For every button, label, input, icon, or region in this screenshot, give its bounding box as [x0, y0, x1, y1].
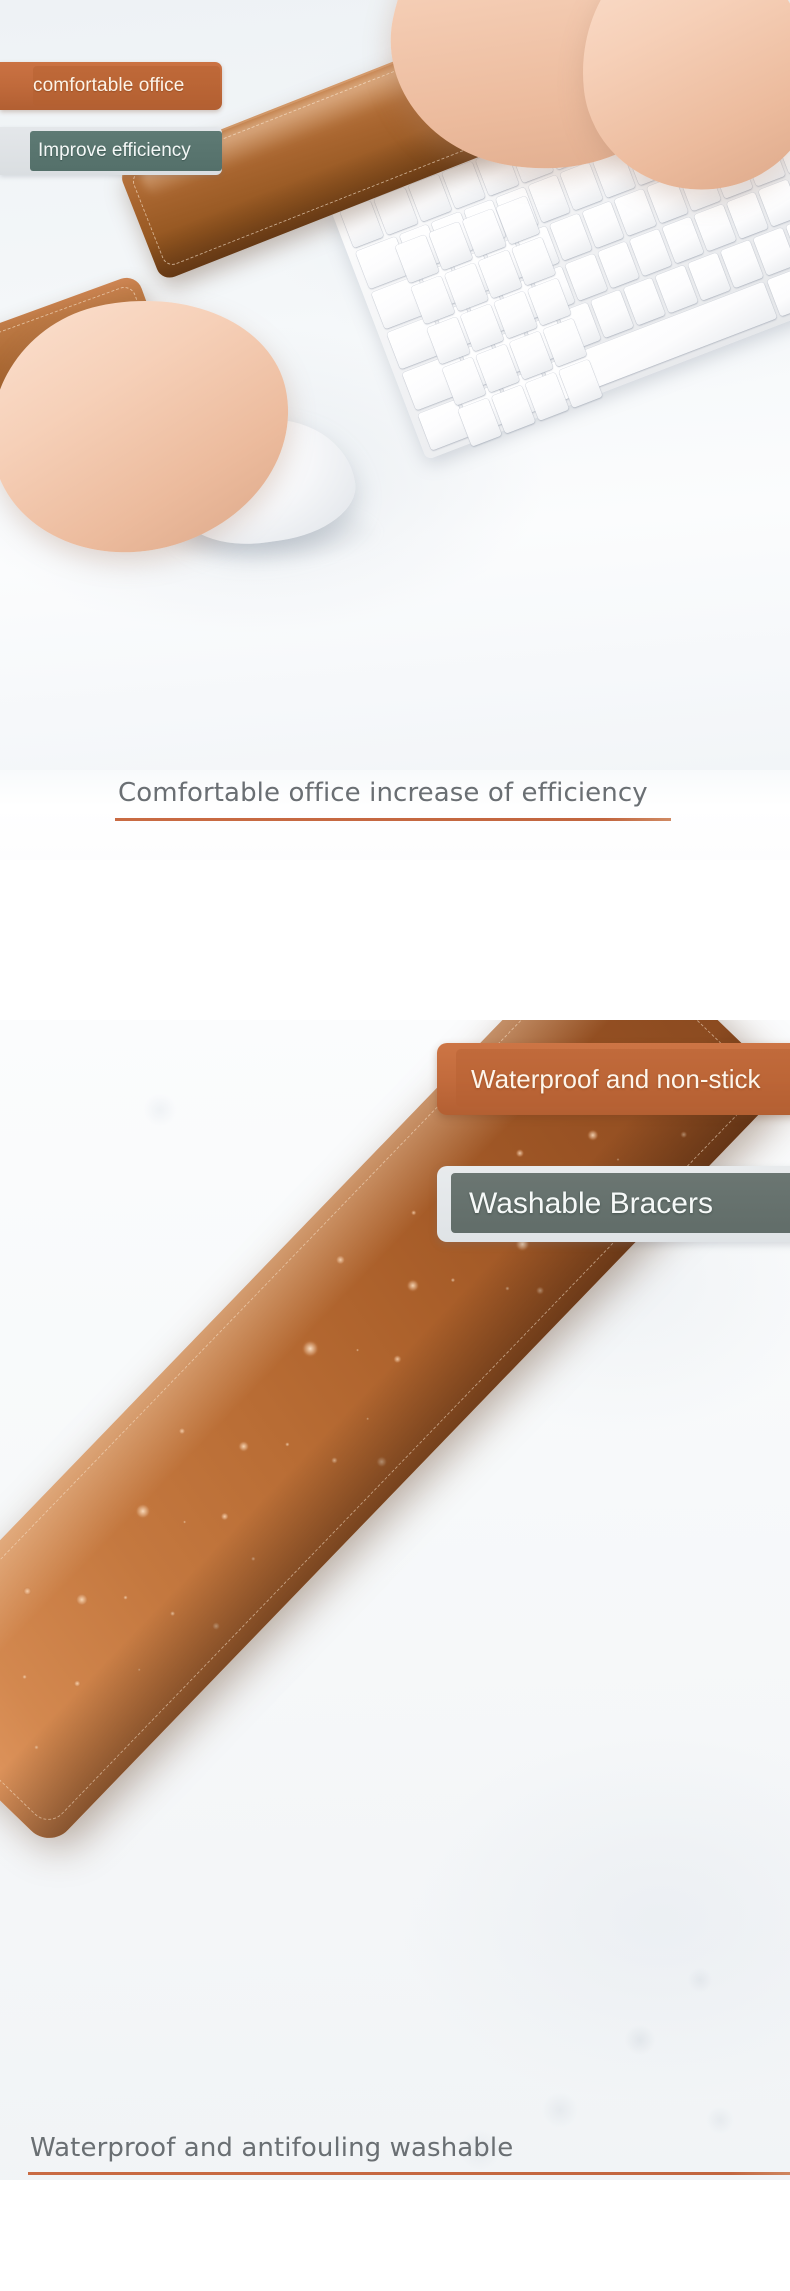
product-feature-page: comfortable office Improve efficiency Co…	[0, 0, 790, 2291]
badge-waterproof-non-stick: Waterproof and non-stick	[437, 1043, 790, 1115]
caption-block-1: Comfortable office increase of efficienc…	[0, 770, 790, 860]
badge-label: Washable Bracers	[437, 1166, 713, 1242]
badge-comfortable-office: comfortable office	[0, 62, 222, 110]
caption-text: Comfortable office increase of efficienc…	[118, 778, 648, 808]
badge-improve-efficiency: Improve efficiency	[0, 127, 222, 175]
badge-label: comfortable office	[0, 75, 184, 97]
badge-label: Improve efficiency	[0, 127, 191, 175]
caption-text: Waterproof and antifouling washable	[30, 2133, 513, 2163]
caption-block-2: Waterproof and antifouling washable	[0, 2180, 790, 2291]
badge-washable-bracers: Washable Bracers	[437, 1166, 790, 1242]
badge-label: Waterproof and non-stick	[437, 1043, 761, 1115]
section-divider	[0, 860, 790, 1020]
caption-underline	[28, 2172, 790, 2175]
caption-underline	[115, 818, 671, 821]
panel-comfortable-office: comfortable office Improve efficiency Co…	[0, 0, 790, 860]
